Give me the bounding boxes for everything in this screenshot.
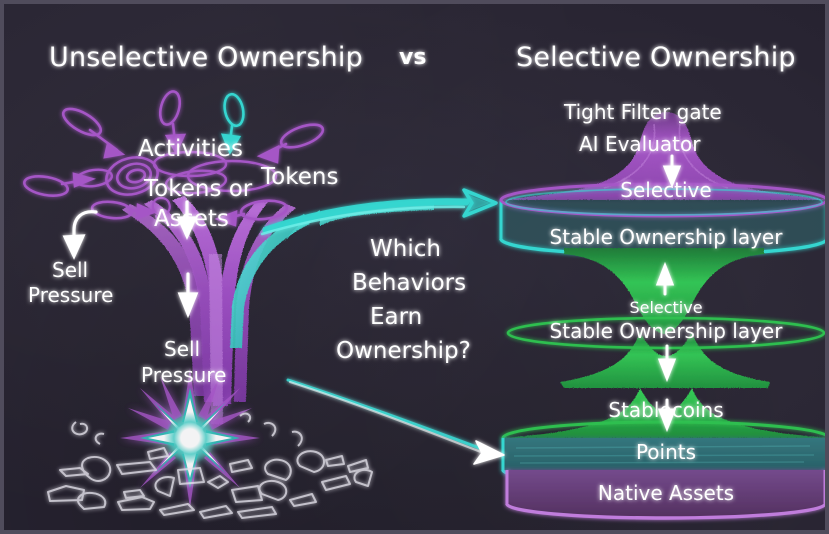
stack-label-points: Points — [636, 440, 696, 464]
illustration-text-layer: Unselective Ownership vs Selective Owner… — [4, 4, 829, 534]
question-line-3: Earn — [370, 304, 422, 330]
whiteboard-illustration: Unselective Ownership vs Selective Owner… — [0, 0, 829, 534]
stack-label-stablecoins: Stablecoins — [608, 398, 723, 422]
label-tokens-or: Tokens or — [143, 176, 253, 202]
question-line-2: Behaviors — [352, 270, 466, 296]
left-title: Unselective Ownership — [49, 42, 363, 73]
right-title: Selective Ownership — [516, 42, 796, 73]
funnel-middle-inner-label: Selective — [629, 298, 702, 317]
gate-caption-line-2: AI Evaluator — [579, 132, 701, 156]
sell-center-line1: Sell — [164, 337, 200, 361]
funnel-top-inner-label: Selective — [620, 178, 711, 202]
label-activities: Activities — [138, 136, 243, 162]
label-tokens: Tokens — [260, 164, 338, 190]
question-line-4: Ownership? — [336, 338, 471, 364]
funnel-middle-disc-label: Stable Ownership layer — [550, 319, 784, 343]
sell-left-line2: Pressure — [28, 283, 113, 307]
stack-label-native-assets: Native Assets — [598, 481, 734, 505]
gate-caption-line-1: Tight Filter gate — [563, 100, 722, 124]
question-line-1: Which — [370, 236, 441, 262]
funnel-top-disc-label: Stable Ownership layer — [550, 225, 784, 249]
sell-left-line1: Sell — [52, 258, 88, 282]
sell-center-line2: Pressure — [141, 363, 226, 387]
vs-label: vs — [399, 45, 426, 70]
label-assets: Assets — [154, 206, 229, 232]
